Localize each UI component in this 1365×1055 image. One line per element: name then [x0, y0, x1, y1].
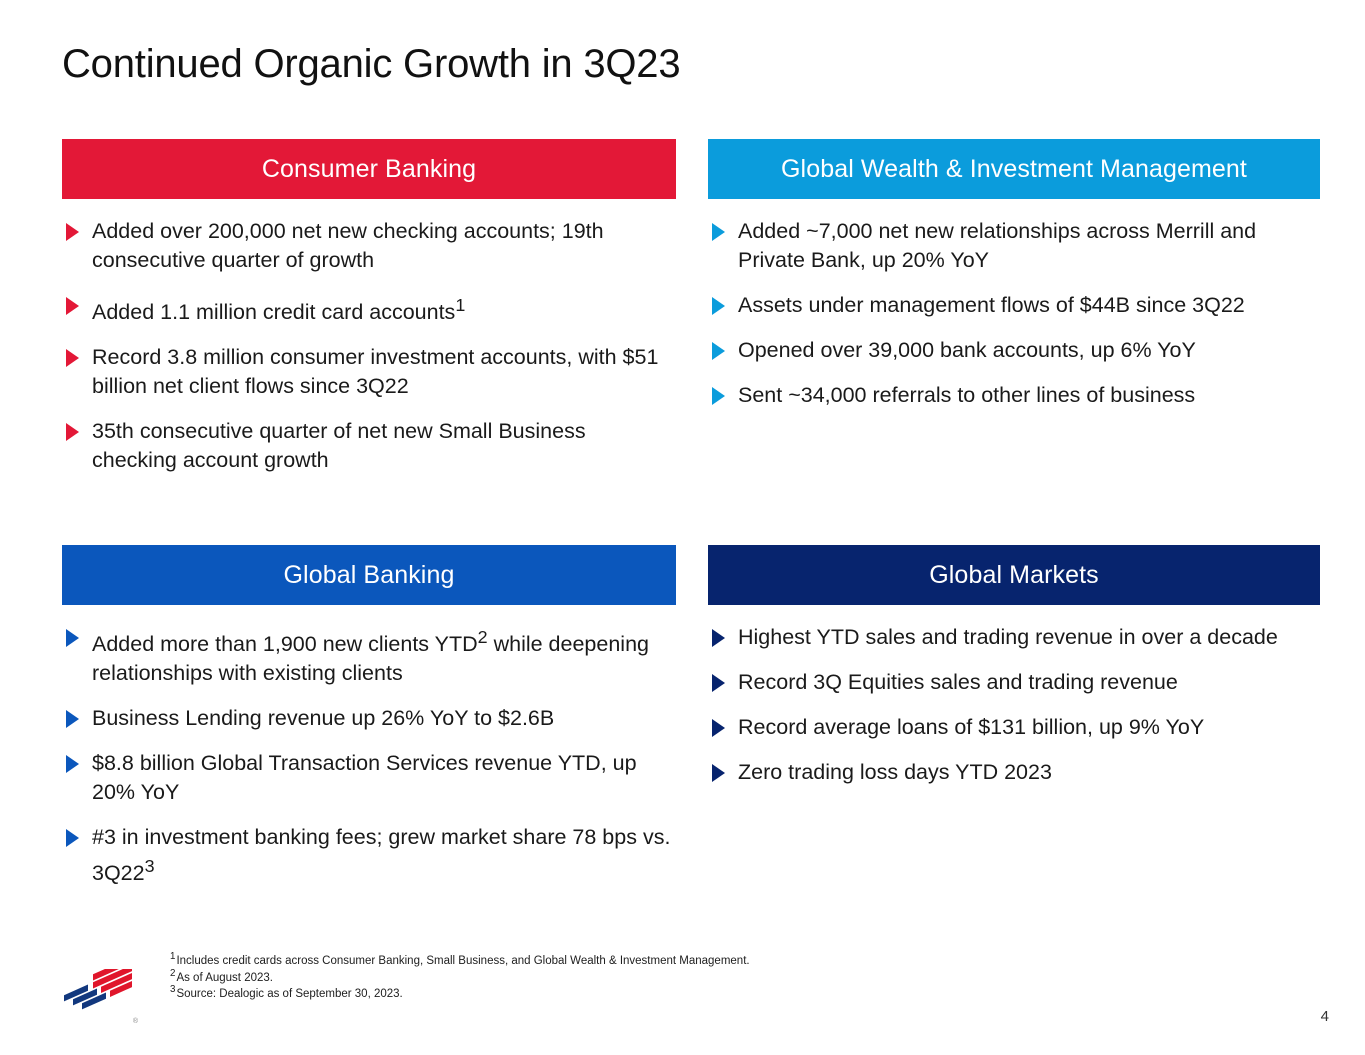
list-item-label: #3 in investment banking fees; grew mark… — [92, 825, 670, 885]
footnotes: 1Includes credit cards across Consumer B… — [170, 953, 750, 1003]
footnote-text: As of August 2023. — [176, 972, 273, 984]
section-header-global-markets: Global Markets — [708, 545, 1320, 605]
list-item: Record average loans of $131 billion, up… — [708, 713, 1320, 742]
list-item: Zero trading loss days YTD 2023 — [708, 758, 1320, 787]
triangle-bullet-icon — [712, 719, 725, 737]
triangle-bullet-icon — [66, 223, 79, 241]
list-item: Added 1.1 million credit card accounts1 — [62, 291, 676, 327]
triangle-bullet-icon — [66, 755, 79, 773]
page-number: 4 — [1321, 1008, 1329, 1025]
triangle-bullet-icon — [712, 674, 725, 692]
quadrant-row-bottom: Global Banking Added more than 1,900 new… — [62, 545, 1320, 888]
list-item-label: Sent ~34,000 referrals to other lines of… — [738, 383, 1195, 407]
bullet-list-global-banking: Added more than 1,900 new clients YTD2 w… — [62, 605, 676, 888]
section-consumer-banking: Consumer Banking Added over 200,000 net … — [62, 139, 676, 545]
list-item-label: Record 3.8 million consumer investment a… — [92, 345, 658, 398]
quadrant-grid: Consumer Banking Added over 200,000 net … — [62, 139, 1320, 888]
triangle-bullet-icon — [66, 423, 79, 441]
section-header-global-banking: Global Banking — [62, 545, 676, 605]
footnote-text: Includes credit cards across Consumer Ba… — [176, 955, 749, 967]
triangle-bullet-icon — [712, 297, 725, 315]
list-item: $8.8 billion Global Transaction Services… — [62, 749, 676, 807]
triangle-bullet-icon — [712, 387, 725, 405]
list-item-label: 35th consecutive quarter of net new Smal… — [92, 419, 586, 472]
triangle-bullet-icon — [66, 710, 79, 728]
footnote-marker: 1 — [170, 951, 175, 962]
bank-of-america-logo: ® — [60, 969, 136, 1025]
section-header-consumer-banking: Consumer Banking — [62, 139, 676, 199]
list-item: Business Lending revenue up 26% YoY to $… — [62, 704, 676, 733]
list-item-label: Added 1.1 million credit card accounts — [92, 300, 455, 324]
list-item: Added over 200,000 net new checking acco… — [62, 217, 676, 275]
bullet-list-global-markets: Highest YTD sales and trading revenue in… — [708, 605, 1320, 787]
list-item: Added more than 1,900 new clients YTD2 w… — [62, 623, 676, 688]
list-item-label: Added ~7,000 net new relationships acros… — [738, 219, 1256, 272]
list-item-label: Record 3Q Equities sales and trading rev… — [738, 670, 1178, 694]
list-item: Record 3Q Equities sales and trading rev… — [708, 668, 1320, 697]
section-header-gwim: Global Wealth & Investment Management — [708, 139, 1320, 199]
footnote-text: Source: Dealogic as of September 30, 202… — [176, 988, 402, 1000]
page-title: Continued Organic Growth in 3Q23 — [62, 42, 680, 87]
list-item: #3 in investment banking fees; grew mark… — [62, 823, 676, 888]
triangle-bullet-icon — [712, 342, 725, 360]
list-item: Sent ~34,000 referrals to other lines of… — [708, 381, 1320, 410]
registered-trademark-icon: ® — [133, 1018, 138, 1025]
list-item: Record 3.8 million consumer investment a… — [62, 343, 676, 401]
quadrant-row-top: Consumer Banking Added over 200,000 net … — [62, 139, 1320, 545]
list-item: Opened over 39,000 bank accounts, up 6% … — [708, 336, 1320, 365]
bullet-list-gwim: Added ~7,000 net new relationships acros… — [708, 199, 1320, 410]
list-item: Highest YTD sales and trading revenue in… — [708, 623, 1320, 652]
list-item-label: Highest YTD sales and trading revenue in… — [738, 625, 1278, 649]
flagscape-logo-icon — [60, 969, 136, 1025]
list-item: Assets under management flows of $44B si… — [708, 291, 1320, 320]
list-item-label: Business Lending revenue up 26% YoY to $… — [92, 706, 554, 730]
section-global-banking: Global Banking Added more than 1,900 new… — [62, 545, 676, 888]
triangle-bullet-icon — [66, 349, 79, 367]
slide: Continued Organic Growth in 3Q23 Consume… — [0, 0, 1365, 1055]
footnote-marker: 3 — [170, 984, 175, 995]
section-global-markets: Global Markets Highest YTD sales and tra… — [708, 545, 1320, 888]
list-item-label: Added over 200,000 net new checking acco… — [92, 219, 604, 272]
triangle-bullet-icon — [712, 764, 725, 782]
triangle-bullet-icon — [66, 297, 79, 315]
triangle-bullet-icon — [712, 629, 725, 647]
triangle-bullet-icon — [66, 629, 79, 647]
list-item-label: Added more than 1,900 new clients YTD — [92, 632, 478, 656]
section-gwim: Global Wealth & Investment Management Ad… — [708, 139, 1320, 545]
list-item-label: Opened over 39,000 bank accounts, up 6% … — [738, 338, 1196, 362]
list-item-label: Assets under management flows of $44B si… — [738, 293, 1245, 317]
footnote-marker: 1 — [455, 295, 465, 315]
list-item: 35th consecutive quarter of net new Smal… — [62, 417, 676, 475]
footnote-2: 2As of August 2023. — [170, 970, 750, 987]
footnote-marker: 2 — [170, 968, 175, 979]
bullet-list-consumer-banking: Added over 200,000 net new checking acco… — [62, 199, 676, 475]
footnote-marker: 3 — [145, 856, 155, 876]
footnote-1: 1Includes credit cards across Consumer B… — [170, 953, 750, 970]
triangle-bullet-icon — [66, 829, 79, 847]
list-item: Added ~7,000 net new relationships acros… — [708, 217, 1320, 275]
footnote-marker: 2 — [478, 627, 488, 647]
list-item-label: Zero trading loss days YTD 2023 — [738, 760, 1052, 784]
footnote-3: 3Source: Dealogic as of September 30, 20… — [170, 986, 750, 1003]
triangle-bullet-icon — [712, 223, 725, 241]
list-item-label: $8.8 billion Global Transaction Services… — [92, 751, 637, 804]
list-item-label: Record average loans of $131 billion, up… — [738, 715, 1204, 739]
